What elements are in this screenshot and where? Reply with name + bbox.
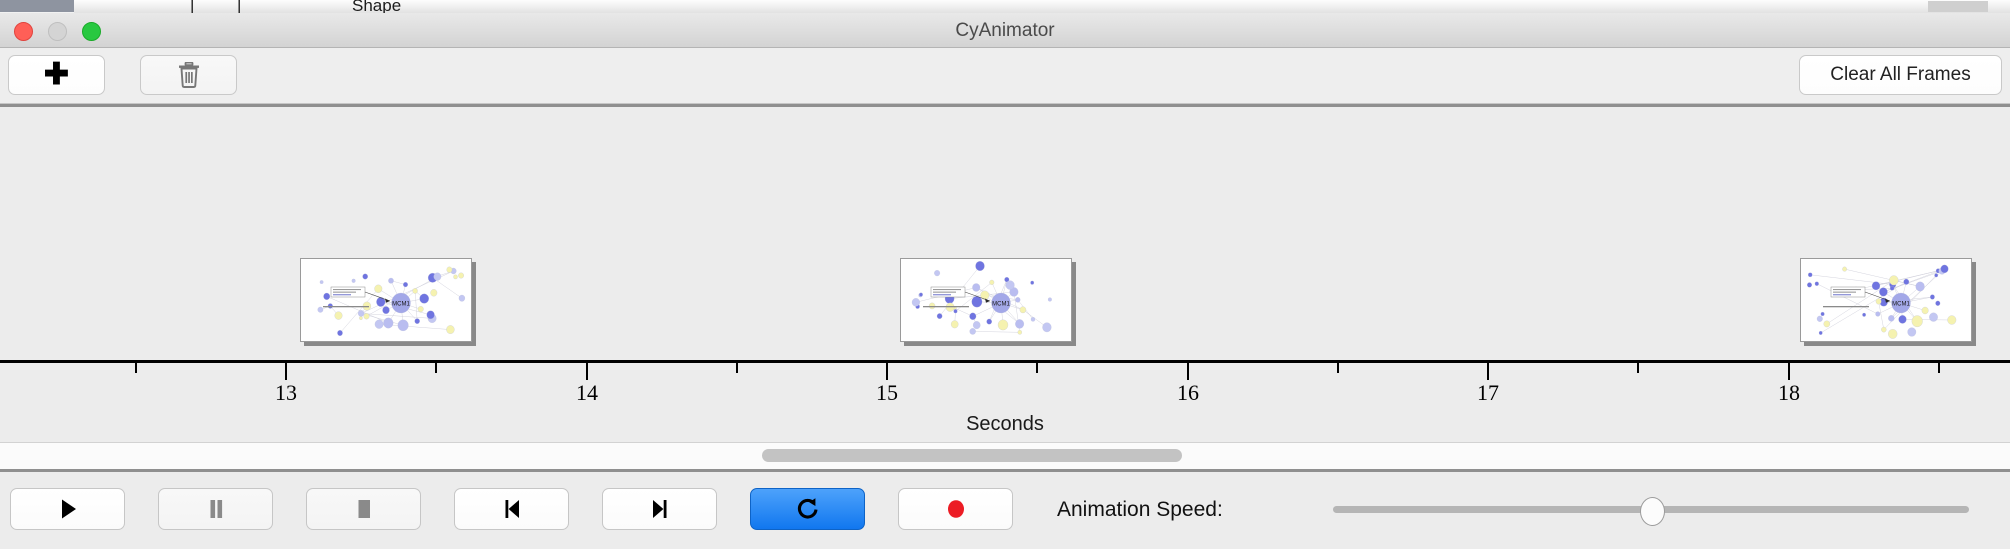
timeline-scrollbar-thumb[interactable] (762, 449, 1182, 462)
background-panel-segment (242, 0, 305, 13)
axis-tick-major (1187, 363, 1189, 380)
axis-tick-minor (135, 363, 137, 373)
window-title: CyAnimator (0, 20, 2010, 42)
svg-text:MCM1: MCM1 (1892, 302, 1910, 308)
pause-icon (203, 496, 229, 522)
cyanimator-window: CyAnimator ✚ Clear All Frames Seconds MC… (0, 13, 2010, 510)
keyframe-thumbnail[interactable]: MCM1 (1800, 258, 1972, 342)
keyframe-thumbnail[interactable]: MCM1 (300, 258, 472, 342)
skip-forward-icon (647, 496, 673, 522)
background-label: | (190, 0, 194, 13)
background-panel-segment (1854, 0, 1899, 13)
skip-to-start-button[interactable] (454, 488, 569, 530)
axis-tick-label: 16 (1177, 380, 1199, 406)
background-label: Shape (352, 0, 401, 13)
animation-speed-slider-thumb[interactable] (1640, 497, 1665, 526)
pause-button[interactable] (158, 488, 273, 530)
timeline-panel[interactable]: Seconds MCM1MCM1MCM12131415161718 (0, 104, 2010, 442)
clear-all-frames-button[interactable]: Clear All Frames (1799, 55, 2002, 95)
record-icon (943, 496, 969, 522)
background-scrollbar (1928, 1, 1988, 12)
axis-tick-minor (1036, 363, 1038, 373)
background-panel-segment (152, 0, 193, 13)
svg-text:MCM1: MCM1 (392, 302, 410, 308)
stop-icon (351, 496, 377, 522)
axis-tick-major (1487, 363, 1489, 380)
background-panel-segment (1818, 0, 1855, 13)
network-graph-thumbnail: MCM1 (901, 259, 1071, 341)
axis-tick-minor (1637, 363, 1639, 373)
background-label: | (237, 0, 241, 13)
axis-tick-label: 17 (1477, 380, 1499, 406)
background-panel-segment (944, 0, 993, 13)
axis-tick-minor (1938, 363, 1940, 373)
background-panel-segment (992, 0, 1819, 13)
network-graph-thumbnail: MCM1 (1801, 259, 1971, 341)
network-graph-thumbnail: MCM1 (1801, 259, 1971, 341)
background-panel-segment (304, 0, 357, 13)
network-graph-thumbnail: MCM1 (901, 259, 1071, 341)
axis-tick-label: 14 (576, 380, 598, 406)
playback-control-bar: Animation Speed: (0, 472, 2010, 549)
background-toolbar-segment (0, 0, 74, 12)
loop-button[interactable] (750, 488, 865, 530)
axis-tick-major (586, 363, 588, 380)
axis-tick-label: 13 (275, 380, 297, 406)
axis-tick-minor (435, 363, 437, 373)
skip-back-icon (499, 496, 525, 522)
add-frame-button[interactable]: ✚ (8, 55, 105, 95)
keyframe-thumbnail[interactable]: MCM1 (900, 258, 1072, 342)
play-icon (55, 496, 81, 522)
background-panel-segment (74, 0, 153, 13)
network-graph-thumbnail: MCM1 (301, 259, 471, 341)
play-button[interactable] (10, 488, 125, 530)
background-window-strip: Shape|| (0, 0, 2010, 13)
svg-text:MCM1: MCM1 (992, 302, 1010, 308)
timeline-axis-title: Seconds (0, 413, 2010, 436)
stop-button[interactable] (306, 488, 421, 530)
background-panel-segment (192, 0, 243, 13)
plus-icon: ✚ (44, 60, 69, 90)
axis-tick-label: 18 (1778, 380, 1800, 406)
record-button[interactable] (898, 488, 1013, 530)
timeline-scrollbar[interactable] (0, 442, 2010, 472)
timeline-axis-line (0, 360, 2010, 363)
background-panel-segment (900, 0, 945, 13)
axis-tick-major (285, 363, 287, 380)
axis-tick-major (1788, 363, 1790, 380)
axis-tick-minor (1337, 363, 1339, 373)
axis-tick-label: 15 (876, 380, 898, 406)
frame-toolbar: ✚ Clear All Frames (0, 48, 2010, 104)
clear-all-frames-label: Clear All Frames (1830, 64, 1970, 86)
skip-to-end-button[interactable] (602, 488, 717, 530)
axis-tick-major (886, 363, 888, 380)
background-panel-segment (452, 0, 901, 13)
trash-icon (177, 62, 201, 88)
network-graph-thumbnail: MCM1 (301, 259, 471, 341)
window-titlebar: CyAnimator (0, 13, 2010, 48)
animation-speed-label: Animation Speed: (1057, 498, 1223, 522)
delete-frame-button[interactable] (140, 55, 237, 95)
loop-icon (795, 496, 821, 522)
axis-tick-minor (736, 363, 738, 373)
